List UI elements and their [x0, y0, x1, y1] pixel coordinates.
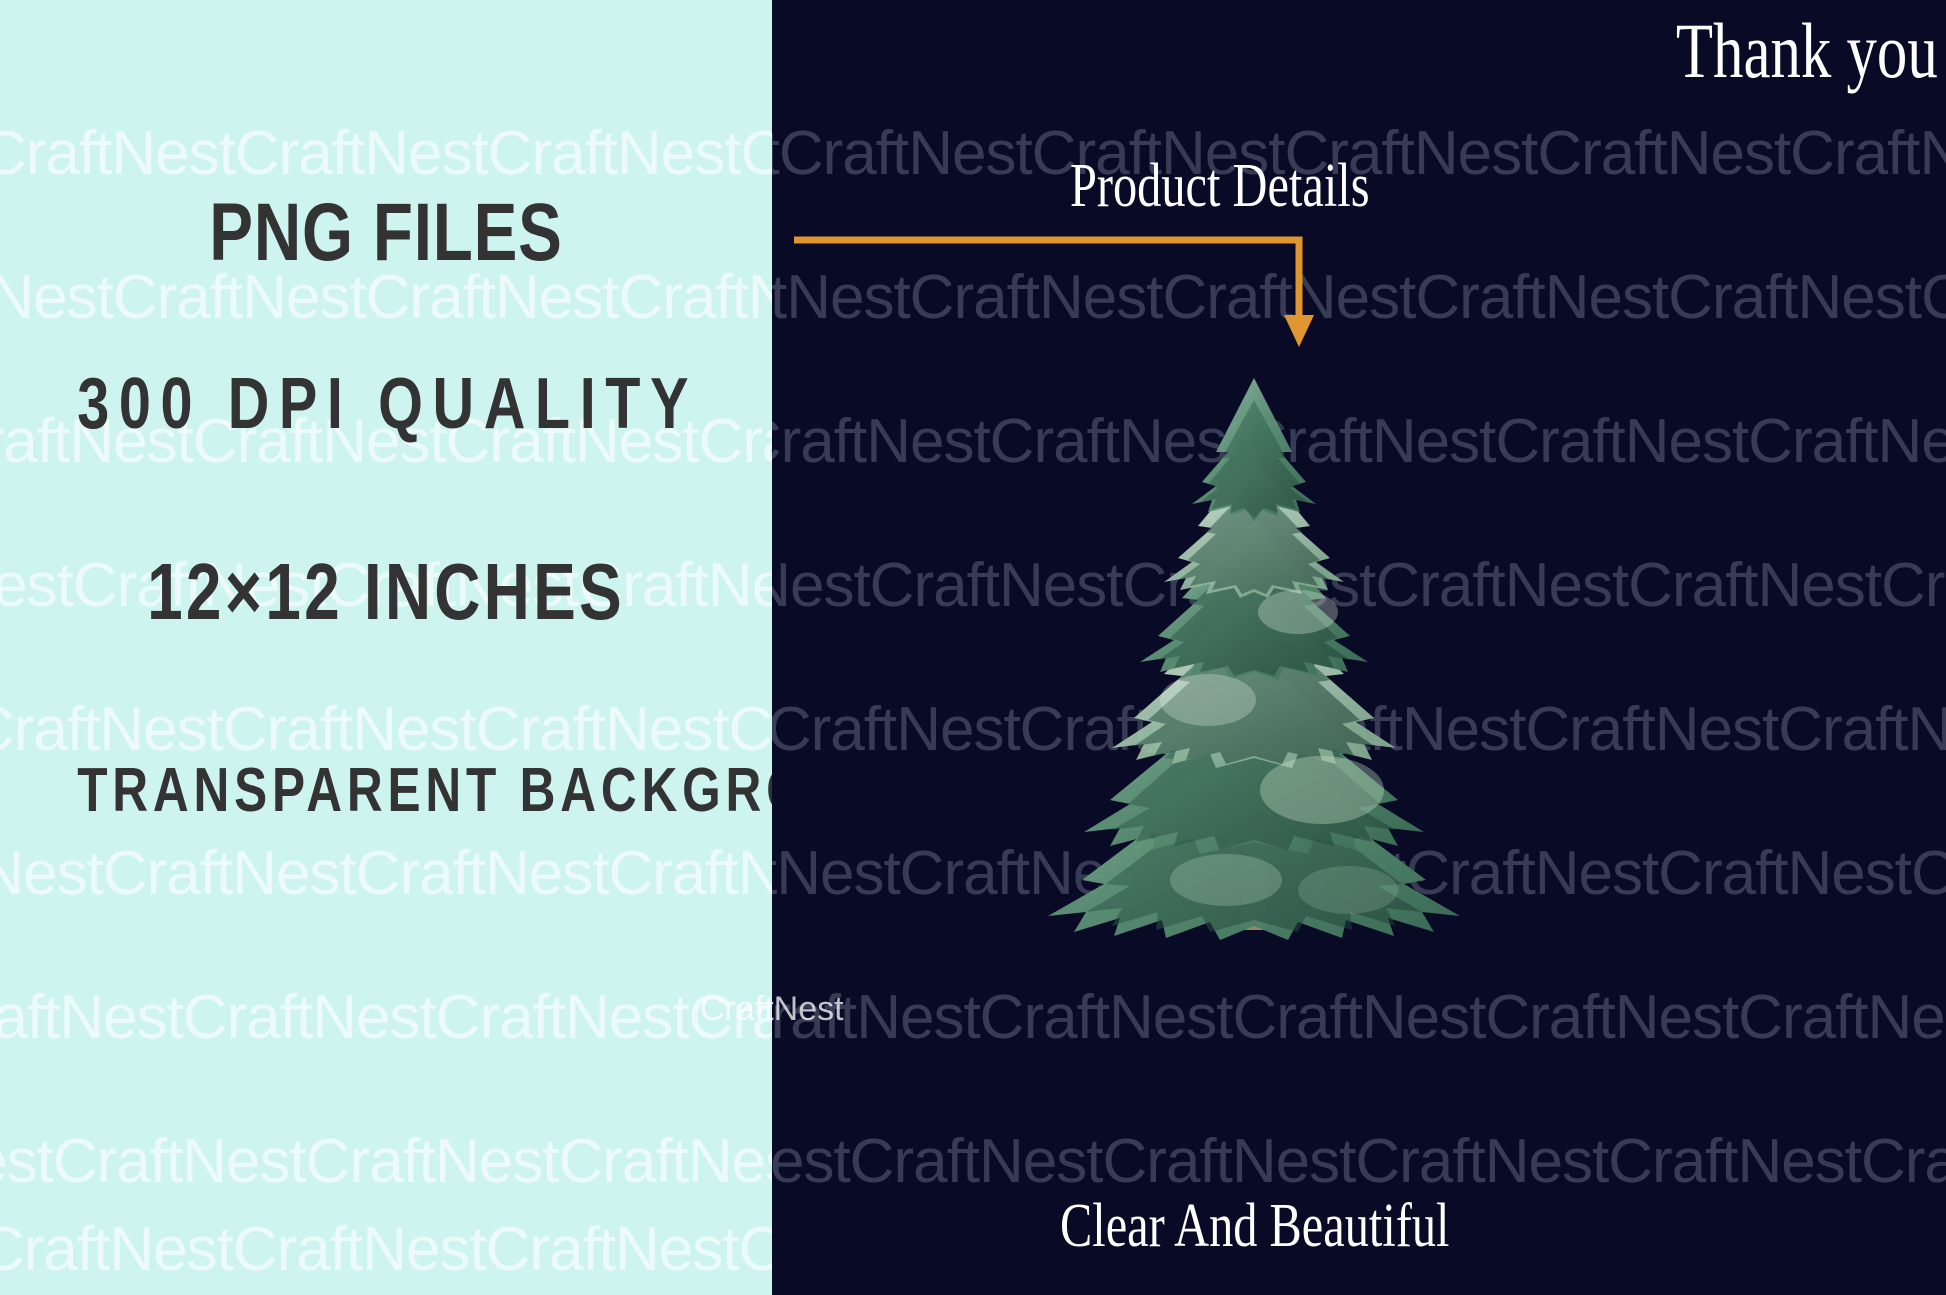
feature-list: PNG FILES 300 DPI QUALITY 12×12 INCHES T… [0, 0, 772, 1295]
watermark-row: CraftNestCraftNestCraftNestCraftNestCraf… [772, 982, 1946, 1053]
feature-dimensions: 12×12 INCHES [77, 552, 695, 632]
thank-you-heading: Thank you [1676, 12, 1938, 90]
watercolor-christmas-tree [1030, 360, 1480, 960]
product-mockup-canvas: CraftNestCraftNestCraftNestCraftNestCraf… [0, 0, 1946, 1295]
feature-transparent-background: TRANSPARENT BACKGROUND [77, 760, 695, 822]
feature-png-files: PNG FILES [77, 192, 695, 274]
feature-dpi-quality: 300 DPI QUALITY [77, 368, 695, 440]
left-info-panel: CraftNestCraftNestCraftNestCraftNestCraf… [0, 0, 772, 1295]
clear-and-beautiful-caption: Clear And Beautiful [1060, 1195, 1449, 1257]
product-details-label: Product Details [1070, 155, 1370, 217]
watermark-row: CraftNestCraftNestCraftNestCraftNestCraf… [772, 1126, 1946, 1197]
brand-watermark-label: CraftNest [700, 990, 844, 1029]
elbow-arrow-down-icon [780, 225, 1320, 355]
tree-illustration [1030, 360, 1480, 960]
